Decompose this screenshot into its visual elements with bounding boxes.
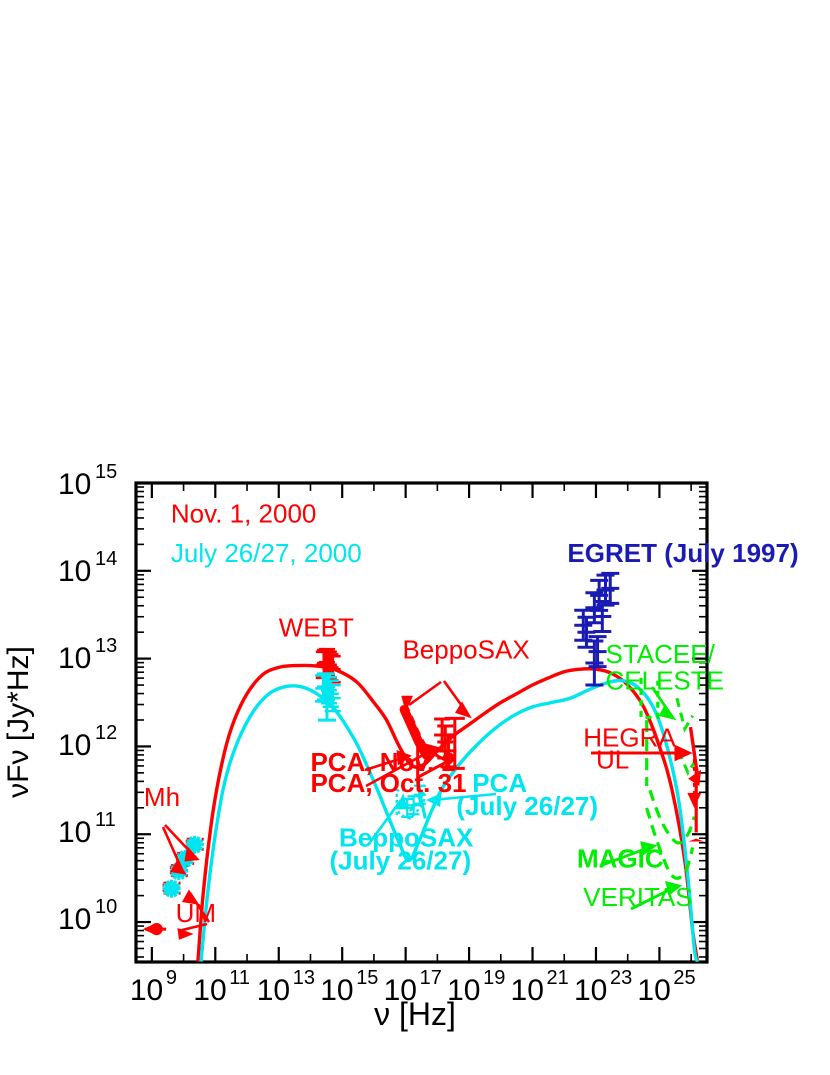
x-tick-exponent: 25: [673, 967, 695, 989]
annotation-label: VERITAS: [583, 882, 692, 912]
y-tick-exponent: 12: [95, 722, 117, 744]
annotation-label: July 26/27, 2000: [171, 538, 362, 568]
y-tick-base: 10: [58, 903, 91, 936]
annotation-label: WEBT: [279, 613, 354, 643]
x-tick-exponent: 21: [547, 967, 569, 989]
annotation-label: Mh: [144, 782, 180, 812]
y-tick-exponent: 10: [95, 896, 117, 918]
x-tick-exponent: 19: [483, 967, 505, 989]
annotation-label: EGRET (July 1997): [567, 538, 798, 568]
y-tick-exponent: 11: [95, 809, 116, 831]
y-axis-title: νFν [Jy*Hz]: [2, 646, 35, 798]
x-tick-base: 10: [574, 974, 607, 1007]
x-tick-exponent: 11: [229, 967, 250, 989]
y-tick-base: 10: [58, 468, 91, 501]
y-tick-base: 10: [58, 729, 91, 762]
annotation-label: MAGIC: [577, 844, 664, 874]
y-tick-exponent: 14: [95, 548, 117, 570]
x-tick-exponent: 13: [293, 967, 315, 989]
x-tick-base: 10: [193, 974, 226, 1007]
x-axis-title: ν [Hz]: [374, 996, 456, 1032]
x-tick-exponent: 17: [420, 967, 442, 989]
x-tick-base: 10: [511, 974, 544, 1007]
x-tick-base: 10: [637, 974, 670, 1007]
annotation-label: (July 26/27): [330, 845, 472, 875]
x-tick-exponent: 23: [610, 967, 632, 989]
y-tick-exponent: 15: [95, 461, 117, 483]
x-tick-exponent: 15: [356, 967, 378, 989]
y-tick-base: 10: [58, 555, 91, 588]
y-tick-base: 10: [58, 816, 91, 849]
x-tick-base: 10: [130, 974, 163, 1007]
annotation-label: Nov. 1, 2000: [171, 499, 317, 529]
annotation-label: PCA, Oct. 31: [310, 768, 466, 798]
annotation-label: (July 26/27): [456, 791, 598, 821]
x-tick-base: 10: [320, 974, 353, 1007]
sed-figure: 1015 1014 1013 1012 1011 1010 1091011101…: [0, 0, 830, 1075]
x-tick-exponent: 9: [166, 967, 177, 989]
y-tick-base: 10: [58, 642, 91, 675]
annotation-label: UL: [596, 744, 629, 774]
x-tick-base: 10: [257, 974, 290, 1007]
sed-plot-svg: 1015 1014 1013 1012 1011 1010 1091011101…: [0, 0, 830, 1075]
annotation-label: CELESTE: [605, 665, 724, 695]
annotation-label: UM: [176, 898, 216, 928]
annotation-label: BeppoSAX: [402, 635, 529, 665]
y-tick-exponent: 13: [95, 635, 117, 657]
